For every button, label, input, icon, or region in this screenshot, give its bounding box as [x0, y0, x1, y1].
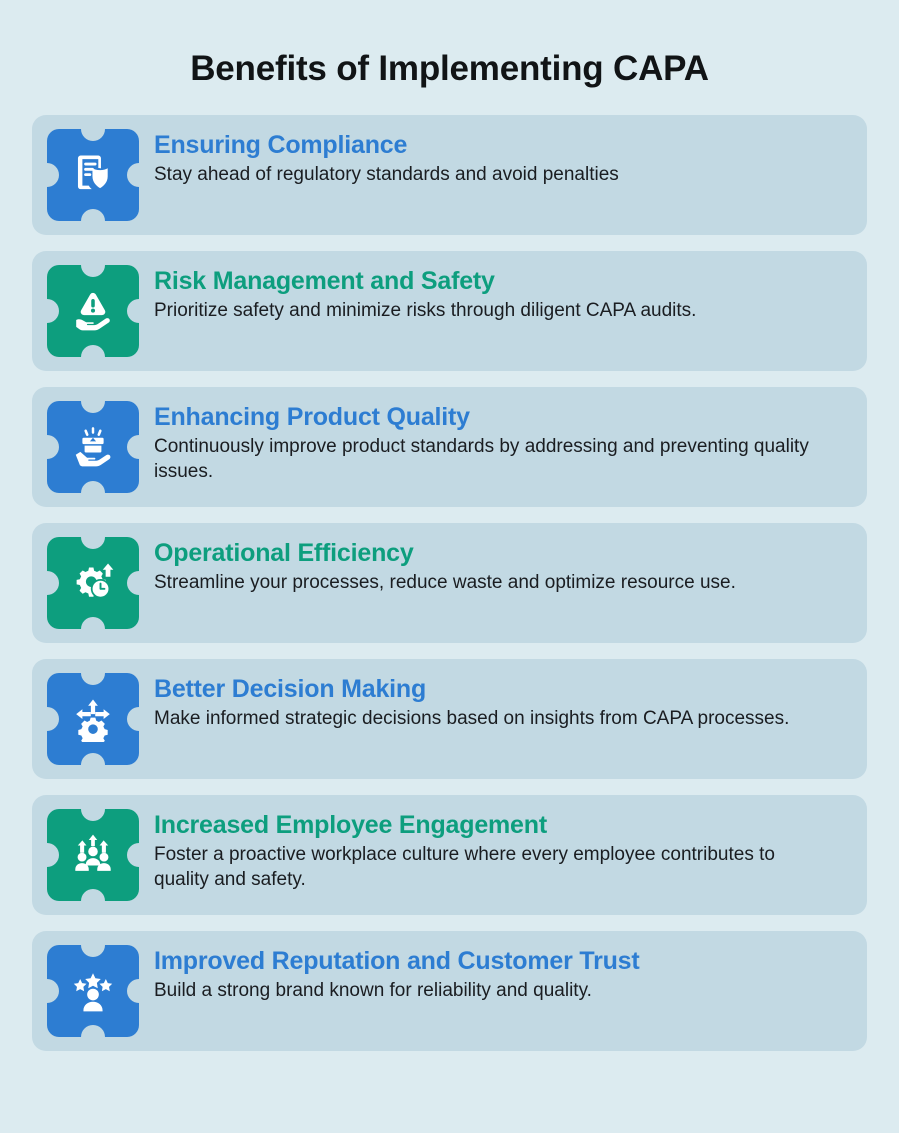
benefit-card-text: Better Decision MakingMake informed stra… — [140, 673, 849, 732]
benefit-icon-badge — [46, 129, 140, 221]
benefit-title: Ensuring Compliance — [154, 131, 849, 161]
benefit-description: Foster a proactive workplace culture whe… — [154, 843, 814, 892]
benefit-card-enhancing-product-quality: Enhancing Product QualityContinuously im… — [32, 387, 867, 507]
warning-triangle-hand-icon — [47, 265, 139, 357]
benefit-card-text: Increased Employee EngagementFoster a pr… — [140, 809, 849, 893]
benefit-icon-badge — [46, 673, 140, 765]
benefit-description: Streamline your processes, reduce waste … — [154, 571, 814, 596]
benefit-icon-badge — [46, 401, 140, 493]
benefit-card-improved-reputation-and-customer-trust: Improved Reputation and Customer TrustBu… — [32, 931, 867, 1051]
hand-holding-product-icon — [47, 401, 139, 493]
benefit-title: Enhancing Product Quality — [154, 403, 849, 433]
benefit-icon-badge — [46, 265, 140, 357]
document-shield-icon — [47, 129, 139, 221]
stars-person-icon — [47, 945, 139, 1037]
benefit-description: Make informed strategic decisions based … — [154, 707, 814, 732]
benefit-card-text: Risk Management and SafetyPrioritize saf… — [140, 265, 849, 324]
benefit-card-text: Improved Reputation and Customer TrustBu… — [140, 945, 849, 1004]
benefit-description: Build a strong brand known for reliabili… — [154, 979, 814, 1004]
gear-clock-arrow-icon — [47, 537, 139, 629]
people-growth-icon — [47, 809, 139, 901]
benefit-card-better-decision-making: Better Decision MakingMake informed stra… — [32, 659, 867, 779]
benefit-card-text: Operational EfficiencyStreamline your pr… — [140, 537, 849, 596]
benefit-description: Continuously improve product standards b… — [154, 435, 814, 484]
benefit-title: Increased Employee Engagement — [154, 811, 849, 841]
benefit-card-ensuring-compliance: Ensuring ComplianceStay ahead of regulat… — [32, 115, 867, 235]
benefit-icon-badge — [46, 537, 140, 629]
benefit-title: Operational Efficiency — [154, 539, 849, 569]
benefits-list: Ensuring ComplianceStay ahead of regulat… — [0, 115, 899, 1051]
benefit-card-text: Enhancing Product QualityContinuously im… — [140, 401, 849, 485]
page-title: Benefits of Implementing CAPA — [0, 0, 899, 89]
benefit-card-increased-employee-engagement: Increased Employee EngagementFoster a pr… — [32, 795, 867, 915]
benefit-icon-badge — [46, 809, 140, 901]
benefit-title: Risk Management and Safety — [154, 267, 849, 297]
infographic-page: Benefits of Implementing CAPA Ensuring C… — [0, 0, 899, 1133]
benefit-card-text: Ensuring ComplianceStay ahead of regulat… — [140, 129, 849, 188]
gear-arrows-icon — [47, 673, 139, 765]
benefit-description: Prioritize safety and minimize risks thr… — [154, 299, 814, 324]
benefit-description: Stay ahead of regulatory standards and a… — [154, 163, 814, 188]
benefit-icon-badge — [46, 945, 140, 1037]
benefit-card-risk-management-and-safety: Risk Management and SafetyPrioritize saf… — [32, 251, 867, 371]
benefit-title: Better Decision Making — [154, 675, 849, 705]
benefit-title: Improved Reputation and Customer Trust — [154, 947, 849, 977]
benefit-card-operational-efficiency: Operational EfficiencyStreamline your pr… — [32, 523, 867, 643]
